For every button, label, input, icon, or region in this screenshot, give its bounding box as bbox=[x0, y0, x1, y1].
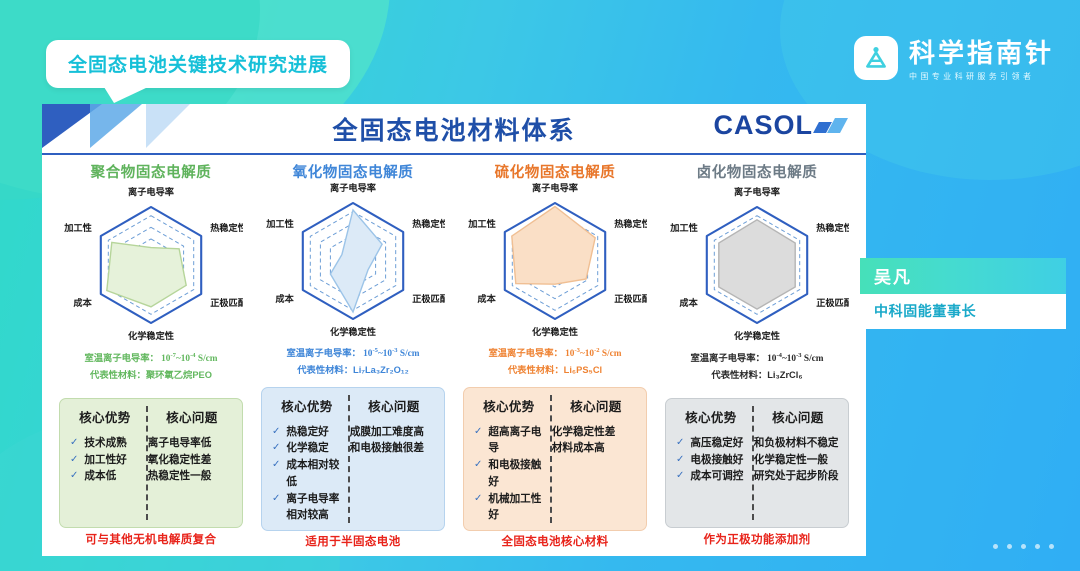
casol-slash-icon bbox=[816, 118, 844, 133]
column-footer-text: 全固态电池核心材料 bbox=[501, 533, 608, 549]
svg-text:加工性: 加工性 bbox=[265, 218, 294, 229]
advantage-text: 化学稳定 bbox=[286, 440, 328, 457]
brand-subtitle: 中国专业科研服务引领者 bbox=[909, 71, 1054, 82]
problem-text: 氧化稳定性差 bbox=[148, 452, 212, 469]
svg-text:成本: 成本 bbox=[679, 297, 698, 308]
pros-cons-box: 核心优势✓高压稳定好✓电极接触好✓成本可调控核心问题和负极材料不稳定化学稳定性一… bbox=[665, 398, 849, 528]
material-spec: 代表性材料：Li₆PS₅Cl bbox=[508, 362, 602, 376]
column-footer-text: 作为正极功能添加剂 bbox=[703, 531, 810, 547]
box-divider bbox=[146, 406, 148, 520]
material-value: Li₇La₃Zr₂O₁₂ bbox=[353, 365, 409, 375]
advantage-item: ✓技术成熟 bbox=[64, 435, 146, 452]
casol-wordmark: CASOL bbox=[714, 110, 814, 141]
svg-text:加工性: 加工性 bbox=[669, 222, 698, 233]
material-specs: 室温离子电导率： 10-7~10-4 S/cm代表性材料：聚环氧乙烷PEO bbox=[50, 346, 252, 394]
problems-half: 核心问题化学稳定性差材料成本高 bbox=[550, 396, 642, 524]
advantage-text: 技术成熟 bbox=[84, 435, 126, 452]
check-icon: ✓ bbox=[676, 468, 684, 484]
conductivity-label: 室温离子电导率： bbox=[690, 353, 764, 363]
problem-text: 热稳定性一般 bbox=[148, 468, 212, 485]
radar-chart: 离子电导率热稳定性正极匹配性化学稳定性成本加工性 bbox=[50, 186, 252, 346]
session-title-banner: 全固态电池关键技术研究进展 bbox=[46, 40, 350, 88]
column-footer: 适用于半固态电池 bbox=[252, 531, 454, 550]
check-icon: ✓ bbox=[474, 457, 482, 473]
material-label: 代表性材料： bbox=[711, 370, 767, 380]
problem-text: 离子电导率低 bbox=[148, 435, 212, 452]
svg-text:离子电导率: 离子电导率 bbox=[734, 187, 780, 197]
session-title: 全固态电池关键技术研究进展 bbox=[68, 50, 328, 77]
advantage-item: ✓机械加工性好 bbox=[468, 491, 550, 524]
slide-title: 全固态电池材料体系 bbox=[332, 111, 575, 147]
problem-item: 研究处于起步阶段 bbox=[752, 468, 844, 485]
check-icon: ✓ bbox=[272, 424, 280, 440]
svg-text:离子电导率: 离子电导率 bbox=[128, 187, 174, 197]
advantage-item: ✓电极接触好 bbox=[670, 452, 752, 469]
check-icon: ✓ bbox=[676, 435, 684, 451]
casol-logo: CASOL bbox=[714, 110, 845, 141]
pros-cons-box: 核心优势✓热稳定好✓化学稳定✓成本相对较低✓离子电导率相对较高核心问题成膜加工难… bbox=[261, 387, 445, 531]
material-columns: 聚合物固态电解质离子电导率热稳定性正极匹配性化学稳定性成本加工性室温离子电导率：… bbox=[50, 156, 858, 550]
svg-text:成本: 成本 bbox=[275, 293, 294, 304]
material-label: 代表性材料： bbox=[90, 370, 146, 380]
svg-text:热稳定性: 热稳定性 bbox=[210, 222, 243, 233]
pros-cons-box: 核心优势✓技术成熟✓加工性好✓成本低核心问题离子电导率低氧化稳定性差热稳定性一般 bbox=[59, 398, 243, 528]
radar-chart: 离子电导率热稳定性正极匹配性化学稳定性成本加工性 bbox=[454, 183, 656, 341]
problem-item: 成膜加工难度高 bbox=[348, 424, 440, 441]
svg-text:正极匹配性: 正极匹配性 bbox=[816, 297, 849, 308]
problem-item: 离子电导率低 bbox=[146, 435, 238, 452]
advantage-text: 电极接触好 bbox=[690, 452, 743, 469]
presentation-slide: 全固态电池材料体系 CASOL 聚合物固态电解质离子电导率热稳定性正极匹配性化学… bbox=[42, 104, 866, 556]
advantages-half: 核心优势✓技术成熟✓加工性好✓成本低 bbox=[64, 407, 146, 521]
speaker-name: 吴凡 bbox=[874, 263, 1052, 288]
conductivity-value: 10-7~10-4 S/cm bbox=[159, 354, 218, 364]
advantages-heading: 核心优势 bbox=[483, 396, 535, 415]
svg-text:化学稳定性: 化学稳定性 bbox=[330, 326, 376, 337]
advantage-text: 成本可调控 bbox=[690, 468, 743, 485]
check-icon: ✓ bbox=[70, 468, 78, 484]
svg-text:离子电导率: 离子电导率 bbox=[532, 183, 578, 193]
svg-text:正极匹配性: 正极匹配性 bbox=[412, 293, 445, 304]
advantage-item: ✓成本相对较低 bbox=[266, 457, 348, 490]
svg-text:离子电导率: 离子电导率 bbox=[330, 183, 376, 193]
column-footer: 可与其他无机电解质复合 bbox=[50, 528, 252, 550]
conductivity-label: 室温离子电导率： bbox=[84, 353, 158, 363]
conductivity-value: 10-5~10-3 S/cm bbox=[361, 349, 420, 359]
svg-text:化学稳定性: 化学稳定性 bbox=[734, 330, 780, 341]
material-label: 代表性材料： bbox=[297, 365, 353, 375]
problems-half: 核心问题成膜加工难度高和电极接触很差 bbox=[348, 396, 440, 524]
svg-text:成本: 成本 bbox=[73, 297, 92, 308]
box-divider bbox=[752, 406, 754, 520]
svg-text:成本: 成本 bbox=[477, 293, 496, 304]
check-icon: ✓ bbox=[70, 452, 78, 468]
advantage-item: ✓高压稳定好 bbox=[670, 435, 752, 452]
problem-item: 和负极材料不稳定 bbox=[752, 435, 844, 452]
problem-text: 研究处于起步阶段 bbox=[754, 468, 839, 485]
material-specs: 室温离子电导率： 10-5~10-3 S/cm代表性材料：Li₇La₃Zr₂O₁… bbox=[252, 341, 454, 383]
problems-heading: 核心问题 bbox=[368, 396, 420, 415]
material-spec: 代表性材料：Li₃ZrCl₆ bbox=[711, 367, 802, 381]
advantage-item: ✓热稳定好 bbox=[266, 424, 348, 441]
banner-tail bbox=[104, 87, 148, 103]
pros-cons-box: 核心优势✓超高离子电导✓和电极接触好✓机械加工性好核心问题化学稳定性差材料成本高 bbox=[463, 387, 647, 531]
brand-logo: 科学指南针 中国专业科研服务引领者 bbox=[854, 33, 1054, 82]
check-icon: ✓ bbox=[676, 452, 684, 468]
material-specs: 室温离子电导率： 10-3~10-2 S/cm代表性材料：Li₆PS₅Cl bbox=[454, 341, 656, 383]
brand-title: 科学指南针 bbox=[909, 33, 1054, 70]
check-icon: ✓ bbox=[474, 491, 482, 507]
radar-chart: 离子电导率热稳定性正极匹配性化学稳定性成本加工性 bbox=[252, 183, 454, 341]
problem-text: 化学稳定性差 bbox=[552, 424, 616, 441]
svg-text:化学稳定性: 化学稳定性 bbox=[532, 326, 578, 337]
material-heading: 硫化物固态电解质 bbox=[454, 156, 656, 183]
material-column-2: 氧化物固态电解质离子电导率热稳定性正极匹配性化学稳定性成本加工性室温离子电导率：… bbox=[252, 156, 454, 550]
conductivity-value: 10-3~10-2 S/cm bbox=[563, 349, 622, 359]
column-footer: 作为正极功能添加剂 bbox=[656, 528, 858, 550]
advantage-text: 热稳定好 bbox=[286, 424, 328, 441]
speaker-role: 中科固能董事长 bbox=[874, 301, 1052, 321]
material-heading: 聚合物固态电解质 bbox=[50, 156, 252, 186]
advantage-text: 机械加工性好 bbox=[488, 491, 549, 524]
advantages-half: 核心优势✓高压稳定好✓电极接触好✓成本可调控 bbox=[670, 407, 752, 521]
material-specs: 室温离子电导率： 10-4~10-3 S/cm代表性材料：Li₃ZrCl₆ bbox=[656, 346, 858, 394]
problem-item: 氧化稳定性差 bbox=[146, 452, 238, 469]
problem-text: 成膜加工难度高 bbox=[350, 424, 424, 441]
conductivity-spec: 室温离子电导率： 10-3~10-2 S/cm bbox=[488, 345, 621, 359]
check-icon: ✓ bbox=[272, 491, 280, 507]
advantages-half: 核心优势✓热稳定好✓化学稳定✓成本相对较低✓离子电导率相对较高 bbox=[266, 396, 348, 524]
advantages-heading: 核心优势 bbox=[281, 396, 333, 415]
conductivity-spec: 室温离子电导率： 10-5~10-3 S/cm bbox=[286, 345, 419, 359]
svg-text:热稳定性: 热稳定性 bbox=[614, 218, 647, 229]
box-divider bbox=[550, 395, 552, 523]
advantages-heading: 核心优势 bbox=[79, 407, 131, 426]
problems-heading: 核心问题 bbox=[772, 407, 824, 426]
check-icon: ✓ bbox=[70, 435, 78, 451]
material-spec: 代表性材料：聚环氧乙烷PEO bbox=[90, 367, 212, 381]
advantage-text: 和电极接触好 bbox=[488, 457, 549, 490]
advantage-item: ✓离子电导率相对较高 bbox=[266, 491, 348, 524]
material-value: Li₆PS₅Cl bbox=[564, 365, 602, 375]
slide-header-rule bbox=[42, 153, 866, 155]
advantage-text: 成本相对较低 bbox=[286, 457, 347, 490]
svg-text:化学稳定性: 化学稳定性 bbox=[128, 330, 174, 341]
problem-item: 材料成本高 bbox=[550, 440, 642, 457]
material-heading: 氧化物固态电解质 bbox=[252, 156, 454, 183]
box-divider bbox=[348, 395, 350, 523]
material-column-4: 卤化物固态电解质离子电导率热稳定性正极匹配性化学稳定性成本加工性室温离子电导率：… bbox=[656, 156, 858, 550]
conductivity-label: 室温离子电导率： bbox=[488, 348, 562, 358]
problem-text: 和电极接触很差 bbox=[350, 440, 424, 457]
problem-text: 和负极材料不稳定 bbox=[754, 435, 839, 452]
advantages-half: 核心优势✓超高离子电导✓和电极接触好✓机械加工性好 bbox=[468, 396, 550, 524]
advantage-item: ✓成本低 bbox=[64, 468, 146, 485]
problem-text: 材料成本高 bbox=[552, 440, 605, 457]
speaker-role-bar: 中科固能董事长 bbox=[860, 294, 1066, 329]
material-value: 聚环氧乙烷PEO bbox=[146, 370, 212, 380]
advantage-item: ✓成本可调控 bbox=[670, 468, 752, 485]
advantage-text: 加工性好 bbox=[84, 452, 126, 469]
advantage-text: 离子电导率相对较高 bbox=[286, 491, 347, 524]
material-value: Li₃ZrCl₆ bbox=[767, 370, 802, 380]
decorative-dots bbox=[993, 544, 1054, 549]
problem-item: 热稳定性一般 bbox=[146, 468, 238, 485]
advantage-text: 超高离子电导 bbox=[488, 424, 549, 457]
conductivity-spec: 室温离子电导率： 10-4~10-3 S/cm bbox=[690, 350, 823, 364]
problem-item: 和电极接触很差 bbox=[348, 440, 440, 457]
problem-text: 化学稳定性一般 bbox=[754, 452, 828, 469]
material-heading: 卤化物固态电解质 bbox=[656, 156, 858, 186]
material-column-1: 聚合物固态电解质离子电导率热稳定性正极匹配性化学稳定性成本加工性室温离子电导率：… bbox=[50, 156, 252, 550]
advantage-text: 高压稳定好 bbox=[690, 435, 743, 452]
column-footer-text: 适用于半固态电池 bbox=[305, 533, 400, 549]
check-icon: ✓ bbox=[272, 457, 280, 473]
svg-text:热稳定性: 热稳定性 bbox=[412, 218, 445, 229]
svg-text:热稳定性: 热稳定性 bbox=[816, 222, 849, 233]
conductivity-label: 室温离子电导率： bbox=[286, 348, 360, 358]
problem-item: 化学稳定性一般 bbox=[752, 452, 844, 469]
advantages-heading: 核心优势 bbox=[685, 407, 737, 426]
check-icon: ✓ bbox=[272, 440, 280, 456]
check-icon: ✓ bbox=[474, 424, 482, 440]
conductivity-spec: 室温离子电导率： 10-7~10-4 S/cm bbox=[84, 350, 217, 364]
column-footer: 全固态电池核心材料 bbox=[454, 531, 656, 550]
column-footer-text: 可与其他无机电解质复合 bbox=[86, 531, 217, 547]
problems-half: 核心问题和负极材料不稳定化学稳定性一般研究处于起步阶段 bbox=[752, 407, 844, 521]
svg-text:加工性: 加工性 bbox=[467, 218, 496, 229]
problem-item: 化学稳定性差 bbox=[550, 424, 642, 441]
problems-heading: 核心问题 bbox=[166, 407, 218, 426]
advantage-item: ✓超高离子电导 bbox=[468, 424, 550, 457]
speaker-card: 吴凡 中科固能董事长 bbox=[860, 258, 1066, 329]
problems-heading: 核心问题 bbox=[570, 396, 622, 415]
advantage-item: ✓和电极接触好 bbox=[468, 457, 550, 490]
compass-logo-icon bbox=[854, 36, 898, 80]
advantage-text: 成本低 bbox=[84, 468, 116, 485]
material-column-3: 硫化物固态电解质离子电导率热稳定性正极匹配性化学稳定性成本加工性室温离子电导率：… bbox=[454, 156, 656, 550]
conductivity-value: 10-4~10-3 S/cm bbox=[765, 354, 824, 364]
svg-text:正极匹配性: 正极匹配性 bbox=[614, 293, 647, 304]
radar-chart: 离子电导率热稳定性正极匹配性化学稳定性成本加工性 bbox=[656, 186, 858, 346]
svg-text:加工性: 加工性 bbox=[63, 222, 92, 233]
svg-text:正极匹配性: 正极匹配性 bbox=[210, 297, 243, 308]
problems-half: 核心问题离子电导率低氧化稳定性差热稳定性一般 bbox=[146, 407, 238, 521]
speaker-name-bar: 吴凡 bbox=[860, 258, 1066, 294]
material-spec: 代表性材料：Li₇La₃Zr₂O₁₂ bbox=[297, 362, 409, 376]
advantage-item: ✓加工性好 bbox=[64, 452, 146, 469]
advantage-item: ✓化学稳定 bbox=[266, 440, 348, 457]
material-label: 代表性材料： bbox=[508, 365, 564, 375]
